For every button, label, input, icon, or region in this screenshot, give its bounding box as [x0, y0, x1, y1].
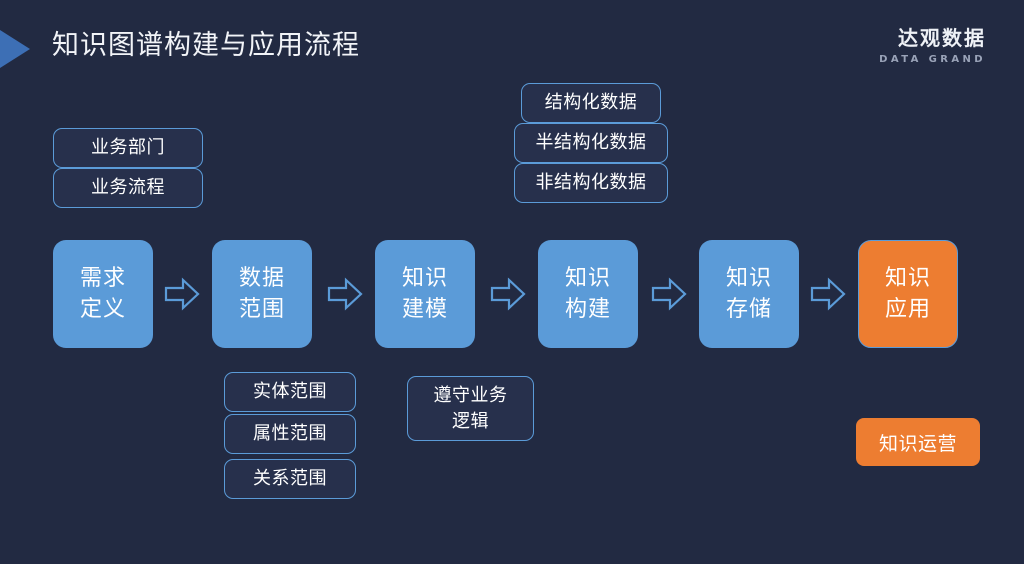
- data-type-box-semi-structured[interactable]: 半结构化数据: [514, 123, 668, 163]
- flow-step-knowledge-construction[interactable]: 知识 构建: [538, 240, 638, 348]
- scope-box-attribute[interactable]: 属性范围: [224, 414, 356, 454]
- flow-step-label-line1: 知识: [565, 263, 611, 294]
- brand-logo-cn: 达观数据: [879, 26, 986, 50]
- arrow-right-outline-icon: [490, 277, 526, 311]
- flow-step-label-line2: 存储: [726, 294, 772, 325]
- flow-step-data-scope[interactable]: 数据 范围: [212, 240, 312, 348]
- arrow-right-outline-icon: [810, 277, 846, 311]
- flow-step-label-line2: 构建: [565, 294, 611, 325]
- flow-step-label-line2: 应用: [885, 294, 931, 325]
- flow-step-label-line2: 定义: [80, 294, 126, 325]
- flow-step-label-line1: 知识: [402, 263, 448, 294]
- rule-box-label-line2: 逻辑: [452, 409, 489, 435]
- brand-logo: 达观数据 DATA GRAND: [879, 26, 986, 68]
- rule-box-label-line1: 遵守业务: [434, 383, 508, 409]
- flow-step-label-line1: 数据: [239, 263, 285, 294]
- page-title: 知识图谱构建与应用流程: [52, 27, 360, 65]
- rule-box-business-logic[interactable]: 遵守业务 逻辑: [407, 376, 534, 441]
- flow-step-knowledge-storage[interactable]: 知识 存储: [699, 240, 799, 348]
- operations-box-knowledge-operations[interactable]: 知识运营: [856, 418, 980, 466]
- flow-step-label-line2: 建模: [402, 294, 448, 325]
- arrow-right-outline-icon: [327, 277, 363, 311]
- flow-step-label-line1: 知识: [885, 263, 931, 294]
- triangle-right-icon: [0, 30, 30, 68]
- data-type-box-structured[interactable]: 结构化数据: [521, 83, 661, 123]
- data-type-box-unstructured[interactable]: 非结构化数据: [514, 163, 668, 203]
- scope-box-relation[interactable]: 关系范围: [224, 459, 356, 499]
- input-box-business-process[interactable]: 业务流程: [53, 168, 203, 208]
- arrow-right-outline-icon: [164, 277, 200, 311]
- flow-step-knowledge-modeling[interactable]: 知识 建模: [375, 240, 475, 348]
- slide-canvas: 知识图谱构建与应用流程 达观数据 DATA GRAND 业务部门 业务流程 结构…: [0, 0, 1024, 564]
- arrow-right-outline-icon: [651, 277, 687, 311]
- flow-step-label-line1: 知识: [726, 263, 772, 294]
- scope-box-entity[interactable]: 实体范围: [224, 372, 356, 412]
- flow-step-label-line2: 范围: [239, 294, 285, 325]
- input-box-business-department[interactable]: 业务部门: [53, 128, 203, 168]
- brand-logo-en: DATA GRAND: [879, 52, 986, 68]
- flow-step-requirement-definition[interactable]: 需求 定义: [53, 240, 153, 348]
- flow-step-label-line1: 需求: [80, 263, 126, 294]
- flow-step-knowledge-application[interactable]: 知识 应用: [858, 240, 958, 348]
